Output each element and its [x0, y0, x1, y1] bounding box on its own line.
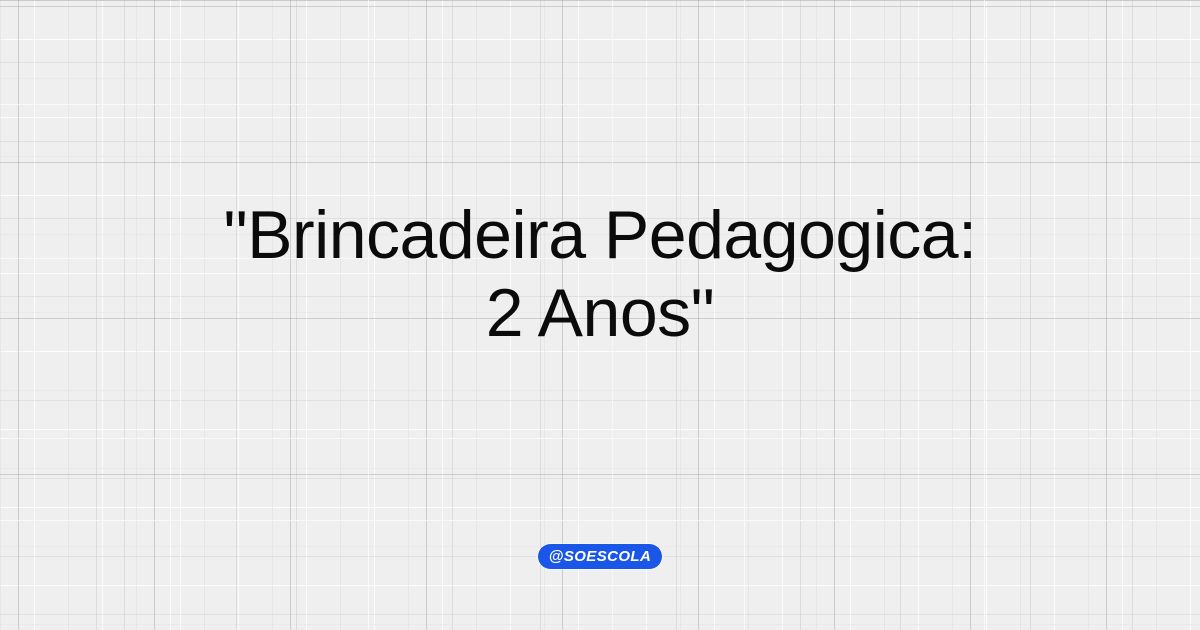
- poster-title: "Brincadeira Pedagogica: 2 Anos": [0, 196, 1200, 352]
- watermark-container: @SOESCOLA: [0, 544, 1200, 569]
- title-line-2: 2 Anos": [0, 274, 1200, 352]
- watermark-badge-soescola: @SOESCOLA: [538, 544, 662, 569]
- title-line-1: "Brincadeira Pedagogica:: [0, 196, 1200, 274]
- poster-canvas: "Brincadeira Pedagogica: 2 Anos" @SOESCO…: [0, 0, 1200, 630]
